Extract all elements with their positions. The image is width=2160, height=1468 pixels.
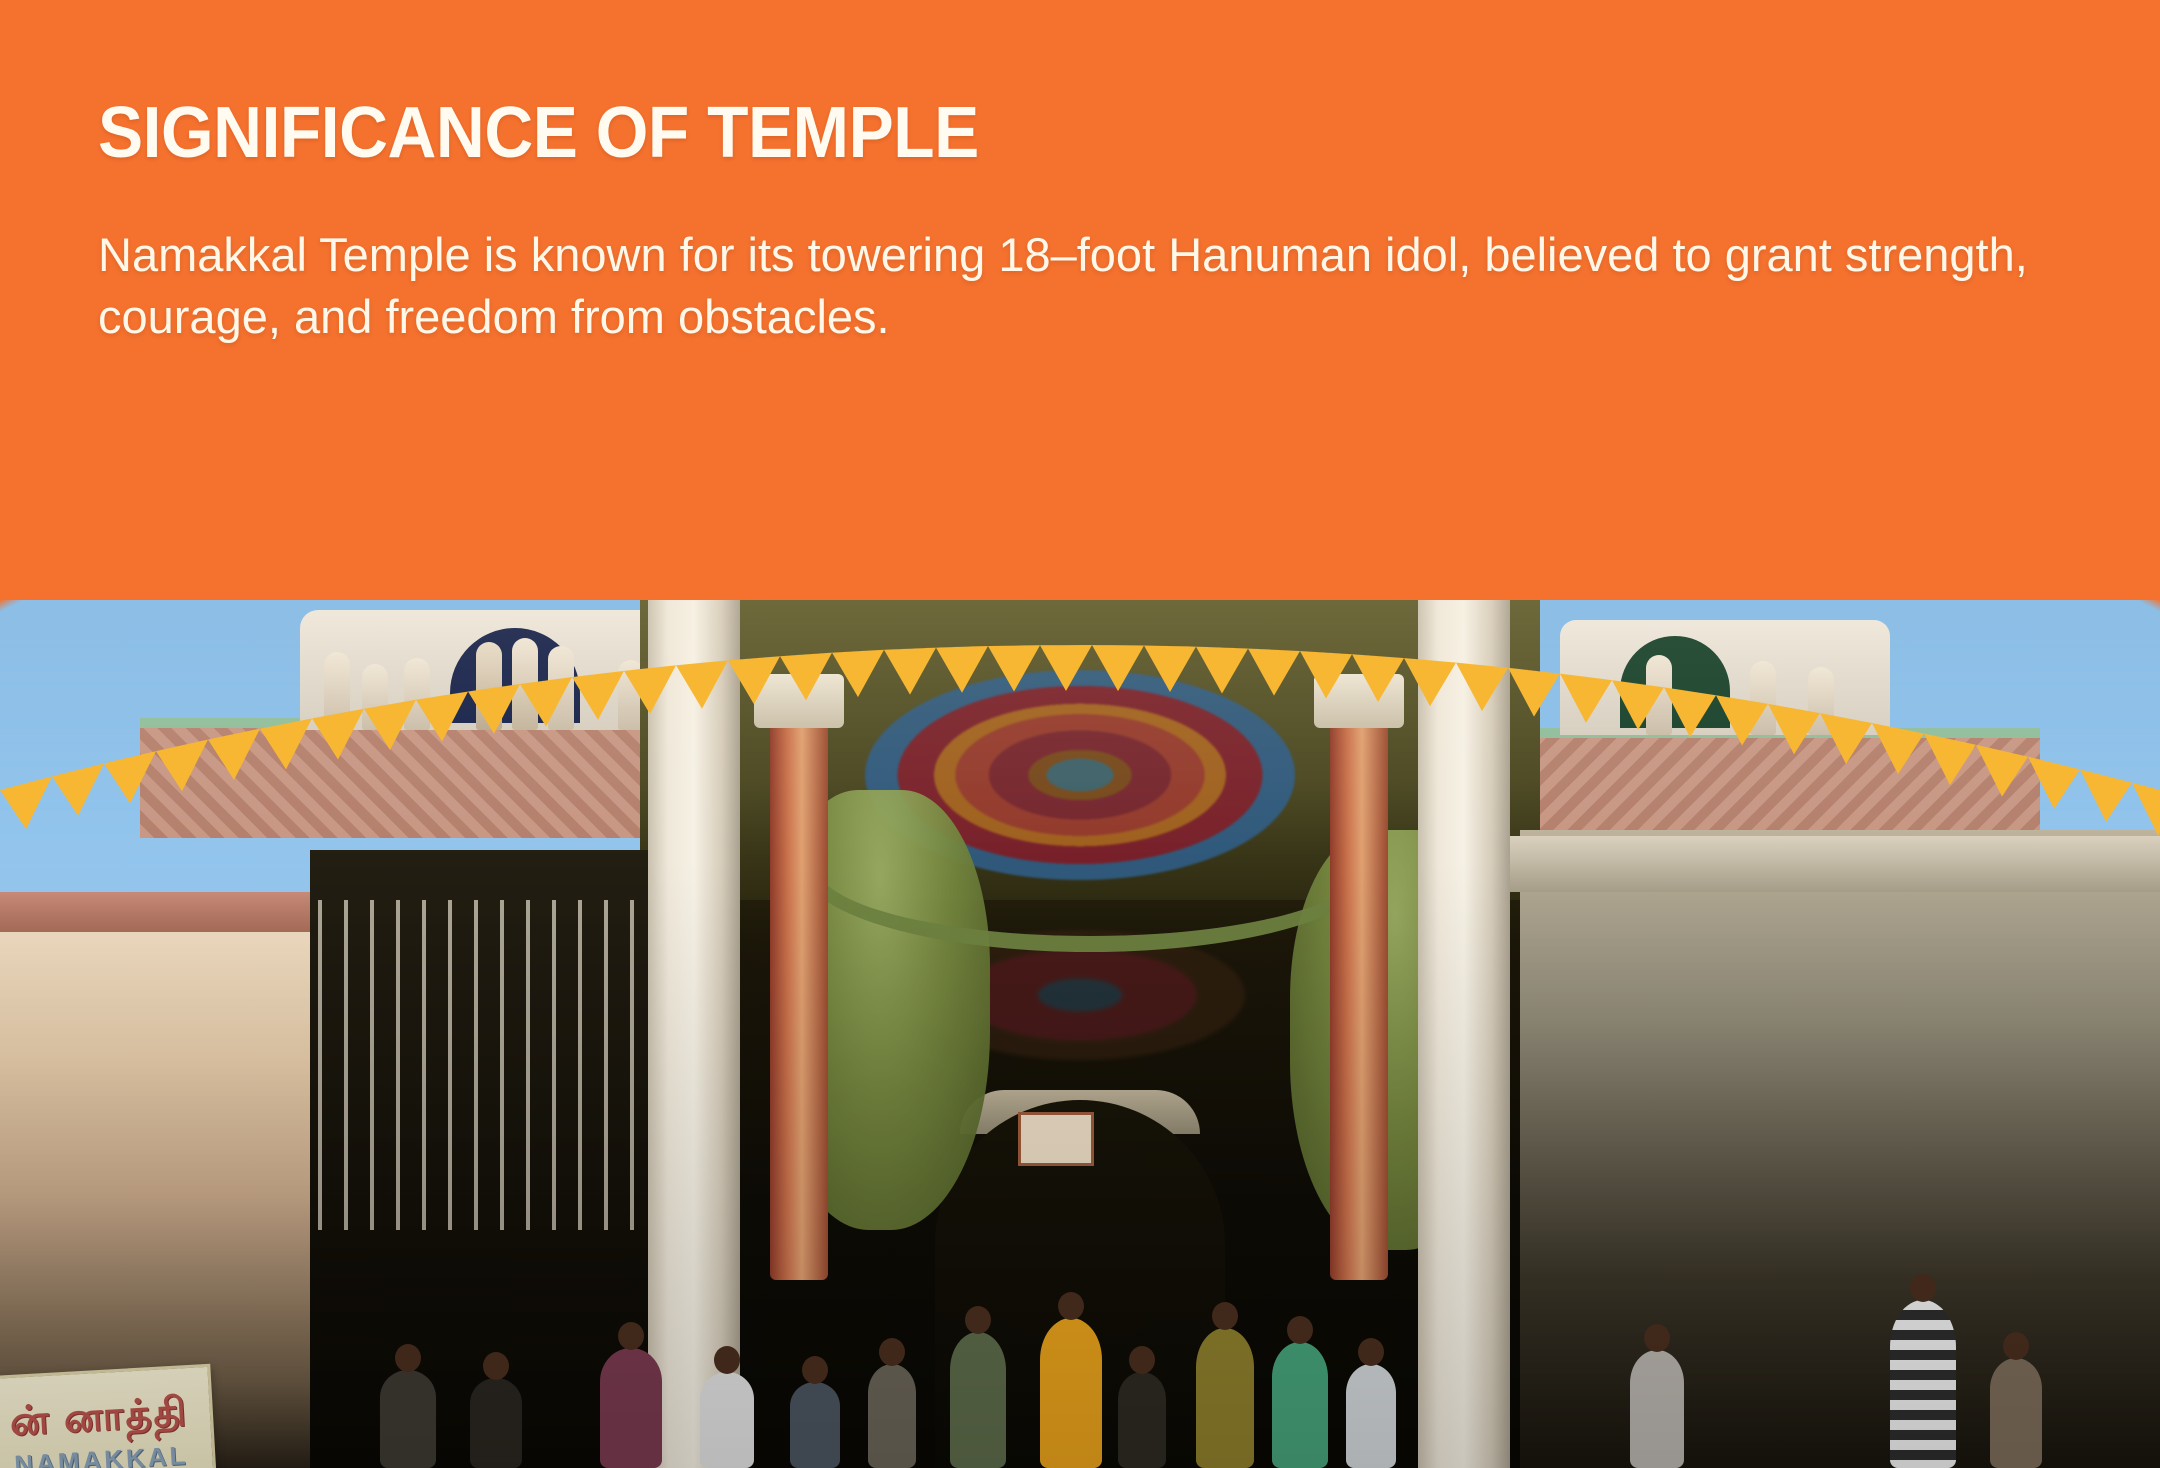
pilgrim [790,1382,840,1468]
text-content-block: SIGNIFICANCE OF TEMPLE Namakkal Temple i… [98,96,2068,348]
pilgrim-head [618,1322,644,1350]
pilgrim-head [1910,1274,1936,1302]
namakkal-sign-tamil-text: ன் னாத்தி [9,1392,189,1442]
pilgrim-head [1212,1302,1238,1330]
painted-column-left [770,720,828,1280]
stone-pillar-left [648,600,740,1468]
deity-niche-right [1620,636,1730,728]
gopuram-tower-left [300,610,680,730]
pilgrim-head [395,1344,421,1372]
pilgrim-head [1358,1338,1384,1366]
pilgrim [1040,1318,1102,1468]
mango-leaf-garland [800,862,1380,952]
pilgrim [470,1378,522,1468]
pilgrim-head [1129,1346,1155,1374]
stone-statue [362,664,388,730]
namakkal-signboard: ன் னாத்தி NAMAKKAL [0,1364,217,1468]
pilgrim [380,1370,436,1468]
pilgrim-head [879,1338,905,1366]
page-title: SIGNIFICANCE OF TEMPLE [98,96,1950,172]
pilgrim [1272,1342,1328,1468]
stone-statue [1750,661,1776,735]
pilgrim-head [1644,1324,1670,1352]
page-description: Namakkal Temple is known for its towerin… [98,224,2028,348]
stone-statue [512,638,538,730]
pilgrim-head [2003,1332,2029,1360]
pilgrim [1630,1350,1684,1468]
pilgrim-head [802,1356,828,1384]
stone-statue [324,652,350,730]
temple-info-card: ன் னாத்தி NAMAKKAL விரைய பதலும் வாலைவிலை… [0,0,2160,1468]
namakkal-sign-latin-text: NAMAKKAL [14,1442,189,1468]
pilgrim-head [483,1352,509,1380]
pilgrim [1346,1364,1396,1468]
pilgrim [700,1372,754,1468]
left-building-roof [0,892,330,932]
right-mandapam-eave [1500,836,2160,892]
pilgrim [1990,1358,2042,1468]
gopuram-tower-right [1560,620,1890,735]
pilgrim-head [1058,1292,1084,1320]
pilgrim-head [1287,1316,1313,1344]
right-mandapam [1520,830,2160,1468]
stone-statue [476,642,502,730]
stone-statue [1808,667,1834,735]
pilgrim [1118,1372,1166,1468]
pilgrim [1196,1328,1254,1468]
stone-statue [1646,655,1672,735]
pilgrim-head [714,1346,740,1374]
corridor-railing [318,900,648,1230]
pilgrim [600,1348,662,1468]
stone-pillar-right [1418,600,1510,1468]
pilgrim [950,1332,1006,1468]
painted-column-right [1330,720,1388,1280]
pilgrim [868,1364,916,1468]
stone-statue [548,646,574,730]
stone-statue [404,658,430,730]
gopuram-roof-left [140,718,700,838]
pilgrim-head [965,1306,991,1334]
deity-picture-frame [1018,1112,1094,1166]
pilgrim [1890,1300,1956,1468]
gopuram-roof-right [1520,728,2040,838]
temple-photograph: ன் னாத்தி NAMAKKAL விரைய பதலும் வாலைவிலை… [0,600,2160,1468]
